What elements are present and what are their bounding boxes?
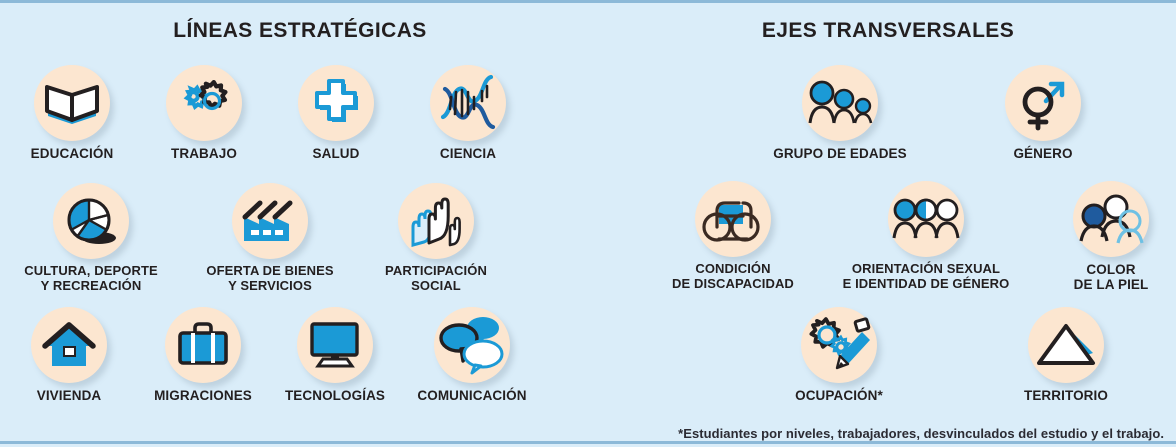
- icon-item-label: TRABAJO: [150, 146, 258, 161]
- icon-item-label: COLOR DE LA PIEL: [1052, 262, 1170, 292]
- icon-item[interactable]: CULTURA, DEPORTE Y RECREACIÓN: [6, 183, 176, 293]
- icon-item-label: EDUCACIÓN: [18, 146, 126, 161]
- icon-item[interactable]: CIENCIA: [414, 65, 522, 161]
- icon-item-label: GRUPO DE EDADES: [760, 146, 920, 161]
- age-group-people-icon: [802, 65, 878, 141]
- icon-item-label: TERRITORIO: [1000, 388, 1132, 403]
- speech-bubbles-icon: [434, 307, 510, 383]
- icon-item[interactable]: PARTICIPACIÓN SOCIAL: [366, 183, 506, 293]
- icon-item[interactable]: OCUPACIÓN*: [762, 307, 916, 403]
- icon-item[interactable]: TRABAJO: [150, 65, 258, 161]
- suitcase-icon: [165, 307, 241, 383]
- icon-item[interactable]: VIVIENDA: [14, 307, 124, 403]
- panel-ejes-transversales: EJES TRANSVERSALES GRUPO DE EDADES GÉNER…: [600, 3, 1176, 447]
- icon-item[interactable]: GRUPO DE EDADES: [760, 65, 920, 161]
- medical-cross-icon: [298, 65, 374, 141]
- icon-item-label: CONDICIÓN DE DISCAPACIDAD: [658, 262, 808, 291]
- gear-pencil-icon: [801, 307, 877, 383]
- mountain-icon: [1028, 307, 1104, 383]
- icon-item[interactable]: MIGRACIONES: [144, 307, 262, 403]
- raised-hands-icon: [398, 183, 474, 259]
- house-icon: [31, 307, 107, 383]
- icon-item[interactable]: COMUNICACIÓN: [400, 307, 544, 403]
- diverse-people-icon: [888, 181, 964, 257]
- icon-item[interactable]: TECNOLOGÍAS: [276, 307, 394, 403]
- icon-item[interactable]: ORIENTACIÓN SEXUAL E IDENTIDAD DE GÉNERO: [818, 181, 1034, 291]
- panel-lineas-estrategicas: LÍNEAS ESTRATÉGICAS EDUCACIÓN TRABAJO SA…: [0, 3, 600, 447]
- icon-item-label: OFERTA DE BIENES Y SERVICIOS: [190, 264, 350, 293]
- icon-item-label: CULTURA, DEPORTE Y RECREACIÓN: [6, 264, 176, 293]
- section-title-left: LÍNEAS ESTRATÉGICAS: [0, 19, 600, 43]
- icon-item[interactable]: COLOR DE LA PIEL: [1052, 181, 1170, 292]
- gender-symbol-icon: [1005, 65, 1081, 141]
- infographic-root: LÍNEAS ESTRATÉGICAS EDUCACIÓN TRABAJO SA…: [0, 0, 1176, 444]
- beach-ball-icon: [53, 183, 129, 259]
- icon-item-label: ORIENTACIÓN SEXUAL E IDENTIDAD DE GÉNERO: [818, 262, 1034, 291]
- icon-item[interactable]: EDUCACIÓN: [18, 65, 126, 161]
- icon-item[interactable]: GÉNERO: [988, 65, 1098, 161]
- gears-icon: [166, 65, 242, 141]
- factory-icon: [232, 183, 308, 259]
- skin-color-people-icon: [1073, 181, 1149, 257]
- open-book-icon: [34, 65, 110, 141]
- footnote: *Estudiantes por niveles, trabajadores, …: [678, 426, 1164, 441]
- icon-item[interactable]: TERRITORIO: [1000, 307, 1132, 403]
- icon-item-label: GÉNERO: [988, 146, 1098, 161]
- icon-item[interactable]: OFERTA DE BIENES Y SERVICIOS: [190, 183, 350, 293]
- icon-item-label: SALUD: [282, 146, 390, 161]
- computer-icon: [297, 307, 373, 383]
- dna-helix-icon: [430, 65, 506, 141]
- icon-item-label: CIENCIA: [414, 146, 522, 161]
- icon-item-label: VIVIENDA: [14, 388, 124, 403]
- icon-item[interactable]: SALUD: [282, 65, 390, 161]
- section-title-right: EJES TRANSVERSALES: [600, 19, 1176, 43]
- wheelchair-icon: [695, 181, 771, 257]
- icon-item-label: COMUNICACIÓN: [400, 388, 544, 403]
- icon-item-label: OCUPACIÓN*: [762, 388, 916, 403]
- icon-item-label: TECNOLOGÍAS: [276, 388, 394, 403]
- icon-item[interactable]: CONDICIÓN DE DISCAPACIDAD: [658, 181, 808, 291]
- icon-item-label: MIGRACIONES: [144, 388, 262, 403]
- icon-item-label: PARTICIPACIÓN SOCIAL: [366, 264, 506, 293]
